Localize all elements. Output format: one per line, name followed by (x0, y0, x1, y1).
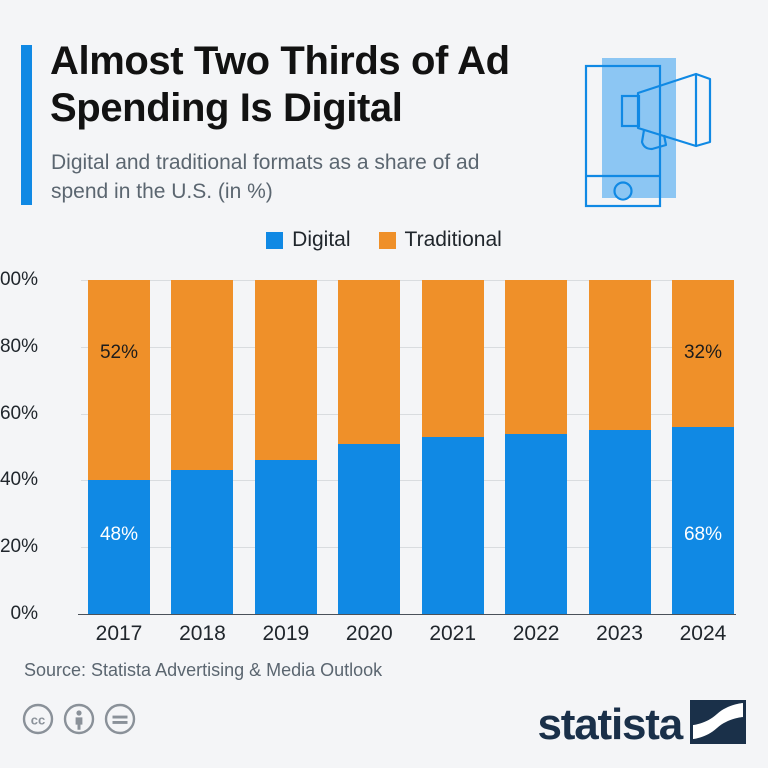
bar-segment-digital[interactable] (589, 430, 651, 614)
gridline (78, 614, 736, 615)
bar-value-label: 68% (672, 524, 734, 546)
statista-logo[interactable]: statista (538, 698, 746, 751)
bar-column[interactable] (338, 280, 400, 614)
bar-segment-digital[interactable] (171, 470, 233, 614)
x-axis-tick-label: 2020 (338, 622, 400, 646)
legend-item-digital[interactable]: Digital (266, 228, 350, 252)
statista-mark-icon (690, 698, 746, 751)
x-axis-tick-label: 2021 (422, 622, 484, 646)
bar-column[interactable] (505, 280, 567, 614)
stacked-bar-chart: 0%20%40%60%80%100% 52%48%32%68% 20172018… (0, 270, 768, 650)
bar-segment-digital[interactable] (338, 444, 400, 614)
x-axis-tick-label: 2023 (589, 622, 651, 646)
page-title: Almost Two Thirds of Ad Spending Is Digi… (50, 38, 570, 132)
y-axis-tick-label: 0% (0, 603, 38, 625)
bar-value-label: 48% (88, 524, 150, 546)
bar-segment-traditional[interactable] (589, 280, 651, 430)
legend-swatch-traditional (379, 232, 396, 249)
creative-commons-badges: cc (22, 703, 136, 740)
header: Almost Two Thirds of Ad Spending Is Digi… (0, 0, 768, 225)
bar-segment-digital[interactable] (255, 460, 317, 614)
x-axis: 20172018201920202021202220232024 (88, 622, 734, 646)
bar-segment-traditional[interactable] (505, 280, 567, 434)
legend-label-traditional: Traditional (405, 228, 502, 252)
bar-segment-traditional[interactable] (255, 280, 317, 460)
smartphone-megaphone-icon (578, 52, 748, 212)
bar-segment-traditional[interactable] (171, 280, 233, 470)
svg-text:cc: cc (31, 713, 45, 728)
x-axis-tick-label: 2017 (88, 622, 150, 646)
infographic-root: Almost Two Thirds of Ad Spending Is Digi… (0, 0, 768, 768)
bar-segment-digital[interactable]: 48% (88, 480, 150, 614)
plot-area: 0%20%40%60%80%100% 52%48%32%68% (88, 280, 734, 614)
statista-wordmark: statista (538, 703, 682, 747)
bar-segment-traditional[interactable]: 32% (672, 280, 734, 427)
cc-noderivatives-icon[interactable] (104, 703, 136, 740)
page-subtitle: Digital and traditional formats as a sha… (51, 148, 521, 206)
legend-label-digital: Digital (292, 228, 350, 252)
source-note: Source: Statista Advertising & Media Out… (24, 660, 382, 681)
bar-column[interactable] (255, 280, 317, 614)
y-axis-tick-label: 60% (0, 403, 38, 425)
bar-segment-traditional[interactable]: 52% (88, 280, 150, 480)
bar-column[interactable] (589, 280, 651, 614)
bar-column[interactable]: 32%68% (672, 280, 734, 614)
title-accent-bar (21, 45, 32, 205)
x-axis-tick-label: 2018 (171, 622, 233, 646)
bar-segment-digital[interactable]: 68% (672, 427, 734, 614)
x-axis-tick-label: 2022 (505, 622, 567, 646)
bar-column[interactable]: 52%48% (88, 280, 150, 614)
cc-icon[interactable]: cc (22, 703, 54, 740)
x-axis-tick-label: 2024 (672, 622, 734, 646)
bar-value-label: 52% (88, 342, 150, 364)
bar-segment-digital[interactable] (505, 434, 567, 614)
bar-segment-traditional[interactable] (422, 280, 484, 437)
bar-series-group: 52%48%32%68% (88, 280, 734, 614)
legend-item-traditional[interactable]: Traditional (379, 228, 502, 252)
y-axis-tick-label: 100% (0, 269, 38, 291)
cc-attribution-icon[interactable] (63, 703, 95, 740)
bar-column[interactable] (422, 280, 484, 614)
bar-column[interactable] (171, 280, 233, 614)
bar-value-label: 32% (672, 342, 734, 364)
y-axis-tick-label: 40% (0, 469, 38, 491)
y-axis-tick-label: 20% (0, 536, 38, 558)
y-axis-tick-label: 80% (0, 336, 38, 358)
legend-swatch-digital (266, 232, 283, 249)
bar-segment-digital[interactable] (422, 437, 484, 614)
bar-segment-traditional[interactable] (338, 280, 400, 444)
chart-legend: Digital Traditional (0, 228, 768, 252)
x-axis-tick-label: 2019 (255, 622, 317, 646)
